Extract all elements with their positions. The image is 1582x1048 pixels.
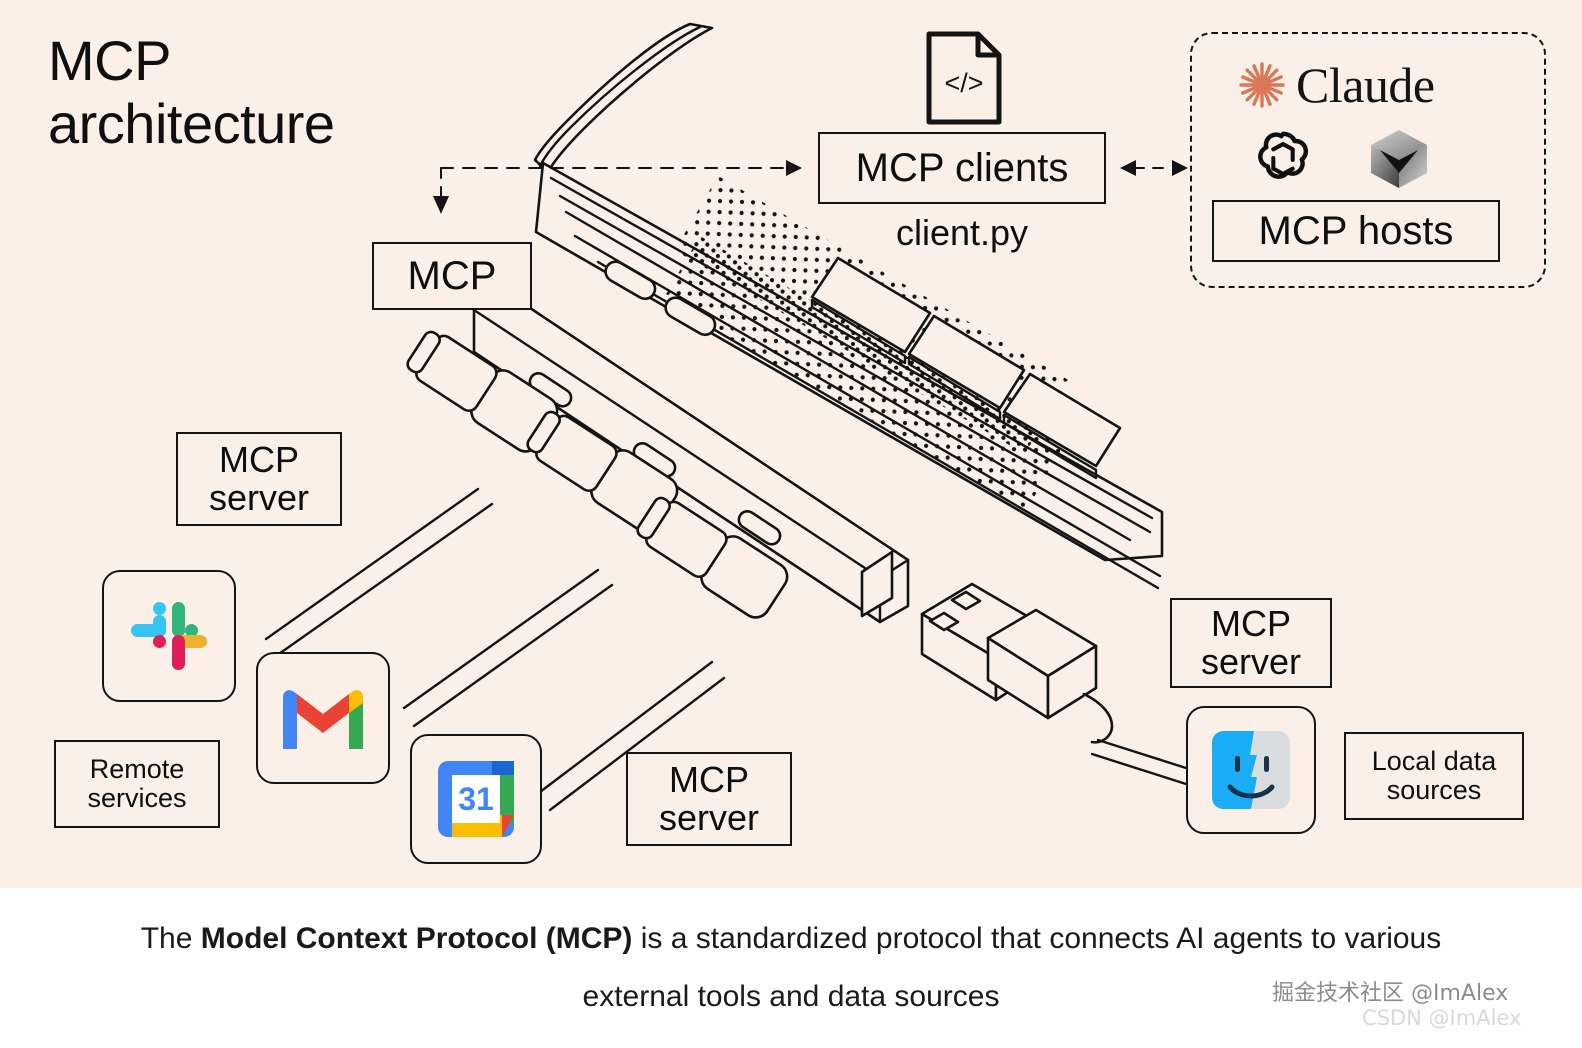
- mcp-label-box[interactable]: MCP: [372, 242, 532, 310]
- calendar-day-number: 31: [458, 781, 494, 817]
- caption-block: The Model Context Protocol (MCP) is a st…: [0, 888, 1582, 1048]
- mcp-server-box-slack[interactable]: MCP server: [176, 432, 342, 526]
- caption-line1-pre: The: [141, 922, 201, 955]
- local-data-sources-box[interactable]: Local data sources: [1344, 732, 1524, 820]
- code-file-icon: </>: [924, 30, 1004, 126]
- caption-line1-bold: Model Context Protocol (MCP): [201, 922, 633, 955]
- mcp-hosts-box[interactable]: MCP hosts: [1212, 200, 1500, 262]
- claude-brand: Claude: [1236, 52, 1498, 118]
- code-glyph: </>: [944, 68, 983, 98]
- caption-line1-post: is a standardized protocol that connects…: [632, 922, 1441, 955]
- caption-line-1: The Model Context Protocol (MCP) is a st…: [11, 910, 1571, 969]
- host-logos-row: [1252, 126, 1432, 192]
- claude-wordmark: Claude: [1296, 56, 1435, 114]
- finder-icon: [1210, 729, 1292, 811]
- openai-icon: [1252, 128, 1314, 190]
- remote-services-box[interactable]: Remote services: [54, 740, 220, 828]
- claude-starburst-icon: [1236, 59, 1288, 111]
- mcp-clients-box[interactable]: MCP clients: [818, 132, 1106, 204]
- cursor-cube-icon: [1366, 126, 1432, 192]
- mcp-server-box-local[interactable]: MCP server: [1170, 598, 1332, 688]
- gmail-app-tile[interactable]: [256, 652, 390, 784]
- caption-line-2: external tools and data sources: [11, 968, 1571, 1027]
- diagram-canvas: .s{fill:#faf0e7;stroke:#141414;stroke-wi…: [0, 0, 1582, 888]
- screenshot-root: .s{fill:#faf0e7;stroke:#141414;stroke-wi…: [0, 0, 1582, 1048]
- finder-app-tile[interactable]: [1186, 706, 1316, 834]
- gmail-icon: [279, 683, 367, 753]
- google-calendar-icon: 31: [434, 757, 518, 841]
- mcp-server-box-calendar[interactable]: MCP server: [626, 752, 792, 846]
- slack-app-tile[interactable]: [102, 570, 236, 702]
- slack-icon: [127, 594, 211, 678]
- page-title: MCP architecture: [48, 30, 335, 155]
- client-py-caption: client.py: [818, 212, 1106, 254]
- google-calendar-app-tile[interactable]: 31: [410, 734, 542, 864]
